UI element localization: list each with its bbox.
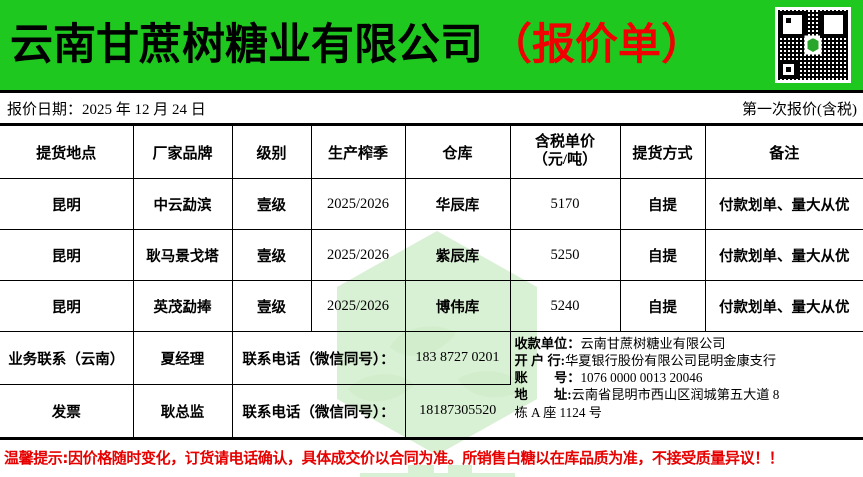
- col-header-warehouse: 仓库: [405, 126, 510, 179]
- quotation-label-text: （报价单）: [489, 20, 704, 70]
- cell-remark: 付款划单、量大从优: [705, 230, 863, 281]
- qr-code[interactable]: [775, 7, 851, 83]
- col-header-season: 生产榨季: [311, 126, 405, 179]
- contact-row-sales: 业务联系（云南） 夏经理 联系电话（微信同号）： 183 8727 0201 收…: [0, 332, 863, 385]
- cell-season: 2025/2026: [311, 230, 405, 281]
- cell-price: 5240: [510, 281, 620, 332]
- bank-info-lines: 收款单位：云南甘蔗树糖业有限公司 开 户 行:华夏银行股份有限公司昆明金康支行 …: [515, 335, 862, 421]
- cell-warehouse: 博伟库: [405, 281, 510, 332]
- col-header-pickup: 提货方式: [620, 126, 705, 179]
- bank-payee-value: 云南甘蔗树糖业有限公司: [580, 336, 725, 351]
- cell-pickup: 自提: [620, 179, 705, 230]
- quotation-page: 云南甘蔗树糖业有限公司（报价单） 报价日期：2025 年 12 月 24 日 第…: [0, 0, 863, 477]
- cell-grade: 壹级: [232, 281, 311, 332]
- warning-text: 温馨提示:因价格随时变化，订货请电话确认，具体成交价以合同为准。所销售白糖以在库…: [4, 447, 783, 468]
- contact-person: 夏经理: [133, 332, 232, 385]
- bank-address-label: 地 址:: [515, 387, 572, 402]
- cell-grade: 壹级: [232, 230, 311, 281]
- cell-location: 昆明: [0, 179, 133, 230]
- cell-brand: 耿马景戈塔: [133, 230, 232, 281]
- contact-phone-label: 联系电话（微信同号）：: [232, 332, 405, 385]
- company-title: 云南甘蔗树糖业有限公司（报价单）: [10, 24, 704, 67]
- cell-brand: 中云勐滨: [133, 179, 232, 230]
- cell-location: 昆明: [0, 230, 133, 281]
- cell-warehouse: 紫辰库: [405, 230, 510, 281]
- date-bar: 报价日期：2025 年 12 月 24 日 第一次报价(含税): [0, 93, 863, 125]
- bank-account-line: 账 号：1076 0000 0013 20046: [515, 369, 862, 386]
- cell-pickup: 自提: [620, 230, 705, 281]
- contact-person: 耿总监: [133, 385, 232, 438]
- col-header-price: 含税单价 （元/吨）: [510, 126, 620, 179]
- contact-phone-value[interactable]: 183 8727 0201: [405, 332, 510, 385]
- quotation-date: 报价日期：2025 年 12 月 24 日: [7, 98, 206, 119]
- col-header-remark: 备注: [705, 126, 863, 179]
- cell-brand: 英茂勐捧: [133, 281, 232, 332]
- cell-price: 5250: [510, 230, 620, 281]
- qr-finder-dot-tr: [835, 18, 840, 23]
- quotation-table: 提货地点 厂家品牌 级别 生产榨季 仓库 含税单价 （元/吨） 提货方式 备注 …: [0, 125, 863, 438]
- cell-grade: 壹级: [232, 179, 311, 230]
- qr-finder-dot-tl: [786, 18, 791, 23]
- bank-address-line: 地 址:云南省昆明市西山区润城第五大道 8: [515, 386, 862, 403]
- cell-season: 2025/2026: [311, 281, 405, 332]
- bank-account-label: 账 号：: [515, 370, 581, 385]
- col-header-brand: 厂家品牌: [133, 126, 232, 179]
- contact-phone-label: 联系电话（微信同号）：: [232, 385, 405, 438]
- col-header-grade: 级别: [232, 126, 311, 179]
- col-header-price-line1: 含税单价: [513, 134, 618, 152]
- contact-label: 业务联系（云南）: [0, 332, 133, 385]
- cell-warehouse: 华辰库: [405, 179, 510, 230]
- table-row: 昆明 中云勐滨 壹级 2025/2026 华辰库 5170 自提 付款划单、量大…: [0, 179, 863, 230]
- cell-location: 昆明: [0, 281, 133, 332]
- table-row: 昆明 耿马景戈塔 壹级 2025/2026 紫辰库 5250 自提 付款划单、量…: [0, 230, 863, 281]
- bank-address-line2: 栋 A 座 1124 号: [515, 404, 862, 421]
- warning-bar: 温馨提示:因价格随时变化，订货请电话确认，具体成交价以合同为准。所销售白糖以在库…: [0, 438, 863, 475]
- bank-name-line: 开 户 行:华夏银行股份有限公司昆明金康支行: [515, 352, 862, 369]
- col-header-price-line2: （元/吨）: [513, 152, 618, 170]
- qr-finder-dot-bl: [786, 67, 791, 72]
- cell-price: 5170: [510, 179, 620, 230]
- qr-code-icon: [778, 10, 848, 80]
- col-header-location: 提货地点: [0, 126, 133, 179]
- header-banner: 云南甘蔗树糖业有限公司（报价单）: [0, 0, 863, 90]
- bank-name-value: 华夏银行股份有限公司昆明金康支行: [565, 353, 776, 368]
- quotation-round: 第一次报价(含税): [742, 98, 857, 119]
- qr-center-logo-icon: [805, 36, 822, 55]
- bank-payee-label: 收款单位：: [515, 336, 581, 351]
- bank-account-value[interactable]: 1076 0000 0013 20046: [580, 370, 702, 385]
- bank-name-label: 开 户 行:: [515, 353, 566, 368]
- cell-season: 2025/2026: [311, 179, 405, 230]
- bank-address-value: 云南省昆明市西山区润城第五大道 8: [572, 387, 780, 402]
- cell-pickup: 自提: [620, 281, 705, 332]
- bank-address-value2: 栋 A 座 1124 号: [515, 405, 602, 420]
- bank-payee-line: 收款单位：云南甘蔗树糖业有限公司: [515, 335, 862, 352]
- table-region: 提货地点 厂家品牌 级别 生产榨季 仓库 含税单价 （元/吨） 提货方式 备注 …: [0, 125, 863, 438]
- table-header-row: 提货地点 厂家品牌 级别 生产榨季 仓库 含税单价 （元/吨） 提货方式 备注: [0, 126, 863, 179]
- cell-remark: 付款划单、量大从优: [705, 281, 863, 332]
- table-row: 昆明 英茂勐捧 壹级 2025/2026 博伟库 5240 自提 付款划单、量大…: [0, 281, 863, 332]
- bank-info-block: 收款单位：云南甘蔗树糖业有限公司 开 户 行:华夏银行股份有限公司昆明金康支行 …: [510, 332, 863, 438]
- cell-remark: 付款划单、量大从优: [705, 179, 863, 230]
- contact-label: 发票: [0, 385, 133, 438]
- contact-phone-value[interactable]: 18187305520: [405, 385, 510, 438]
- company-name-text: 云南甘蔗树糖业有限公司: [10, 20, 483, 70]
